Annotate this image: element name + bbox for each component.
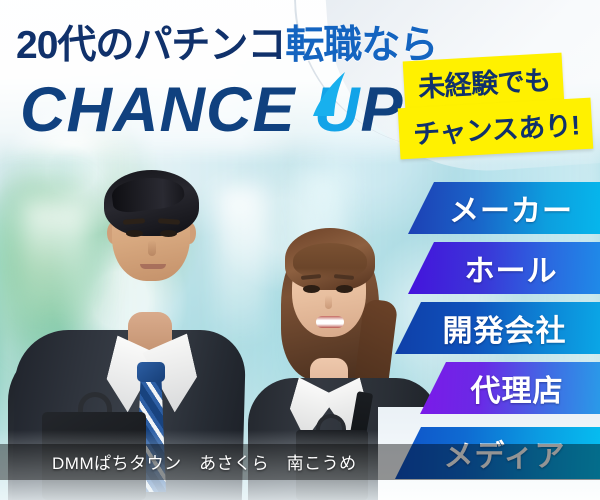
category-label-maker: メーカー xyxy=(435,186,573,230)
category-item-development-company[interactable]: 開発会社 xyxy=(395,302,600,354)
recruitment-banner-ad[interactable]: 20代のパチンコ転職なら CHANCE UP 未経験でも チャンスあり! メーカ… xyxy=(0,0,600,500)
category-item-maker[interactable]: メーカー xyxy=(408,182,600,234)
category-label-development-company: 開発会社 xyxy=(429,306,567,350)
category-item-agency[interactable]: 代理店 xyxy=(420,362,600,414)
category-list: メーカー ホール 開発会社 代理店 メディア xyxy=(0,0,600,500)
category-item-hall[interactable]: ホール xyxy=(408,242,600,294)
credit-text: DMMぱちタウン あさくら 南こうめ xyxy=(52,449,357,474)
category-label-hall: ホール xyxy=(451,246,558,290)
category-label-agency: 代理店 xyxy=(457,366,564,410)
